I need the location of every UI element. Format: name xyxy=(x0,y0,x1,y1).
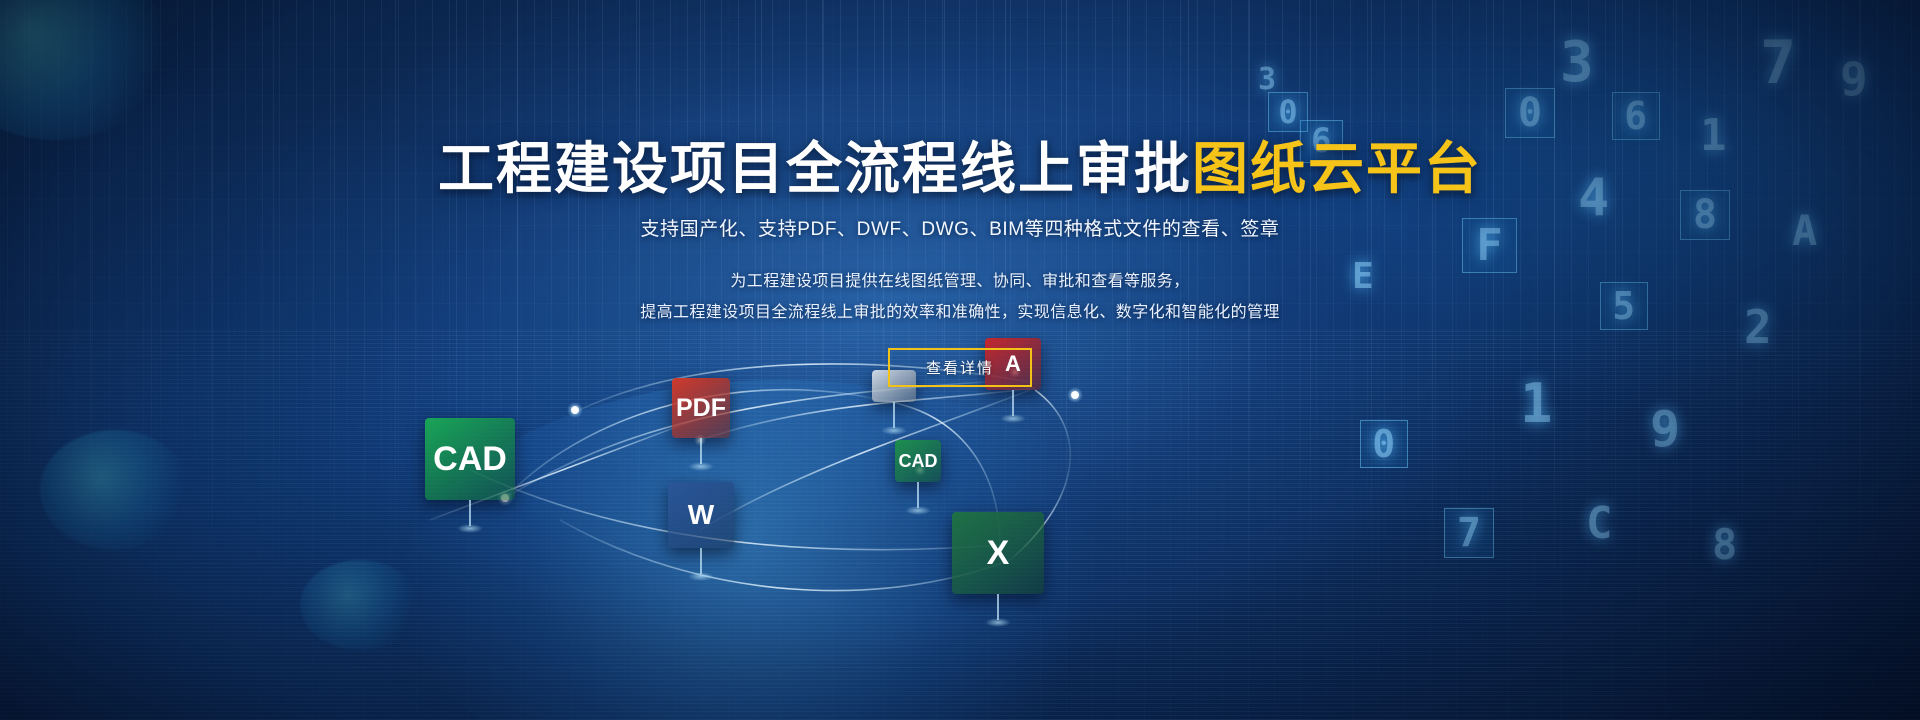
decor-digit: 7 xyxy=(1444,508,1494,558)
globe-graphic xyxy=(400,380,1160,720)
decor-digit: 8 xyxy=(1712,520,1737,569)
hero-description: 为工程建设项目提供在线图纸管理、协同、审批和查看等服务， 提高工程建设项目全流程… xyxy=(0,266,1920,328)
hero-subtitle: 支持国产化、支持PDF、DWF、DWG、BIM等四种格式文件的查看、签章 xyxy=(0,216,1920,244)
page-title: 工程建设项目全流程线上审批图纸云平台 xyxy=(0,138,1920,200)
hero-content: 工程建设项目全流程线上审批图纸云平台 支持国产化、支持PDF、DWF、DWG、B… xyxy=(0,0,1920,387)
page-title-main: 工程建设项目全流程线上审批 xyxy=(438,137,1192,200)
page-title-accent: 图纸云平台 xyxy=(1192,137,1482,200)
decor-digit: 0 xyxy=(1360,420,1408,468)
hero-description-line-2: 提高工程建设项目全流程线上审批的效率和准确性，实现信息化、数字化和智能化的管理 xyxy=(0,297,1920,328)
hero-description-line-1: 为工程建设项目提供在线图纸管理、协同、审批和查看等服务， xyxy=(0,266,1920,297)
cyan-glow-blob xyxy=(40,430,190,550)
hero-banner: 37906148FAE52190C78630 CADPDFWXACAD 工程建设… xyxy=(0,0,1920,720)
decor-digit: C xyxy=(1586,498,1613,549)
autocad-file-icon-stand xyxy=(1012,390,1014,416)
cta-container: 查看详情 xyxy=(0,348,1920,387)
view-details-button[interactable]: 查看详情 xyxy=(888,348,1032,387)
decor-digit: 9 xyxy=(1650,400,1680,458)
